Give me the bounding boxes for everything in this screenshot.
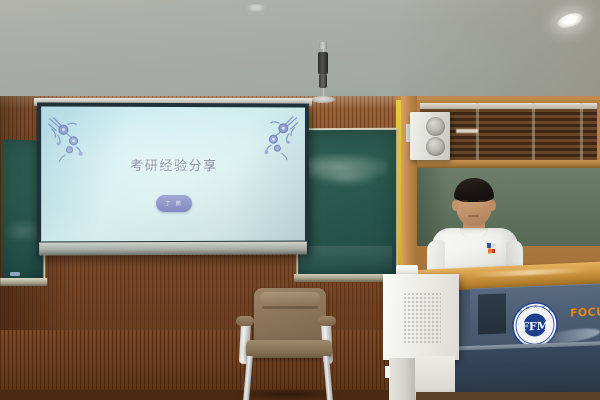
cabinet-label-tag (385, 366, 390, 378)
slide-presenter-name: 丁 鹏 (165, 200, 183, 207)
speaker-driver-bottom (426, 137, 445, 156)
svg-text:FFM: FFM (521, 319, 549, 333)
wall-baseboard (0, 390, 420, 400)
svg-text:学: 学 (542, 304, 545, 309)
podium-recess-panel (478, 293, 506, 334)
cabinet-perforated-grille (403, 292, 441, 344)
svg-text:师: 师 (519, 309, 522, 314)
wall-speaker-icon (410, 112, 450, 160)
chalk-tray-right (294, 274, 396, 282)
slide-title: 考研经验分享 (41, 155, 305, 174)
chair-seat (246, 340, 332, 358)
chalk-tray-left (0, 278, 47, 286)
svg-text:校: 校 (549, 307, 552, 312)
svg-text:N: N (518, 339, 520, 342)
projector-body (318, 52, 328, 74)
presenter-eye-left (462, 200, 468, 202)
svg-text:大: 大 (534, 303, 537, 308)
speaker-driver-top (426, 117, 445, 136)
projection-screen[interactable]: 考研经验分享 丁 鹏 (37, 102, 309, 255)
screen-bottom-bar (39, 242, 307, 256)
presenter-ear-right (489, 200, 496, 211)
slide-presenter-badge: 丁 鹏 (156, 195, 192, 212)
slide-surface: 考研经验分享 丁 鹏 (41, 106, 305, 241)
chair-shadow (236, 388, 340, 400)
presenter-ear-left (452, 200, 459, 211)
chair-armpad-left (236, 316, 254, 326)
shirt-chest-logo-icon (487, 243, 496, 254)
chalk-smudge-lower (318, 170, 376, 186)
presenter-eye-right (478, 200, 484, 202)
av-equipment-cabinet[interactable] (383, 274, 459, 360)
svg-text:范: 范 (526, 305, 529, 310)
chalk-smudge (4, 220, 41, 242)
chair-backrest-highlight (260, 292, 320, 304)
blind-light-reflection (456, 129, 478, 133)
chair-backrest-seam (262, 306, 318, 309)
chair-armpad-right (318, 316, 336, 326)
blind-tape-right (580, 103, 583, 161)
ceiling-downlight-secondary-icon (247, 4, 265, 12)
podium-brand-text: FOCU (570, 305, 600, 319)
projector-collar (319, 42, 327, 49)
projector-ceiling-plate (311, 96, 335, 103)
chalk-piece (10, 272, 20, 276)
classroom-photo-scene: 考研经验分享 丁 鹏 (0, 0, 600, 400)
blind-tape-center (532, 103, 535, 161)
cabinet-stand-left (389, 358, 415, 400)
blind-headrail (420, 103, 597, 109)
window-sill (417, 160, 600, 168)
projector-lens-housing (319, 74, 327, 88)
floor-strip (416, 392, 600, 400)
chalkboard-right (296, 128, 398, 280)
presenter-mouth (468, 215, 479, 217)
